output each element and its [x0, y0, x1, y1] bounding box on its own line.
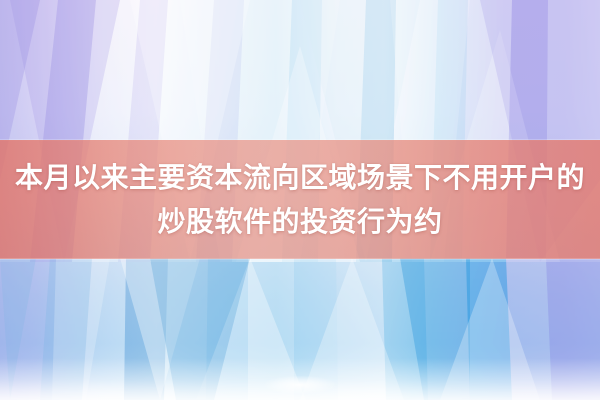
banner-image: 本月以来主要资本流向区域场景下不用开户的炒股软件的投资行为约 — [0, 0, 600, 400]
headline-block: 本月以来主要资本流向区域场景下不用开户的炒股软件的投资行为约 — [0, 140, 600, 259]
facet-shards-bottom — [0, 258, 600, 400]
headline-text: 本月以来主要资本流向区域场景下不用开户的炒股软件的投资行为约 — [10, 156, 590, 244]
